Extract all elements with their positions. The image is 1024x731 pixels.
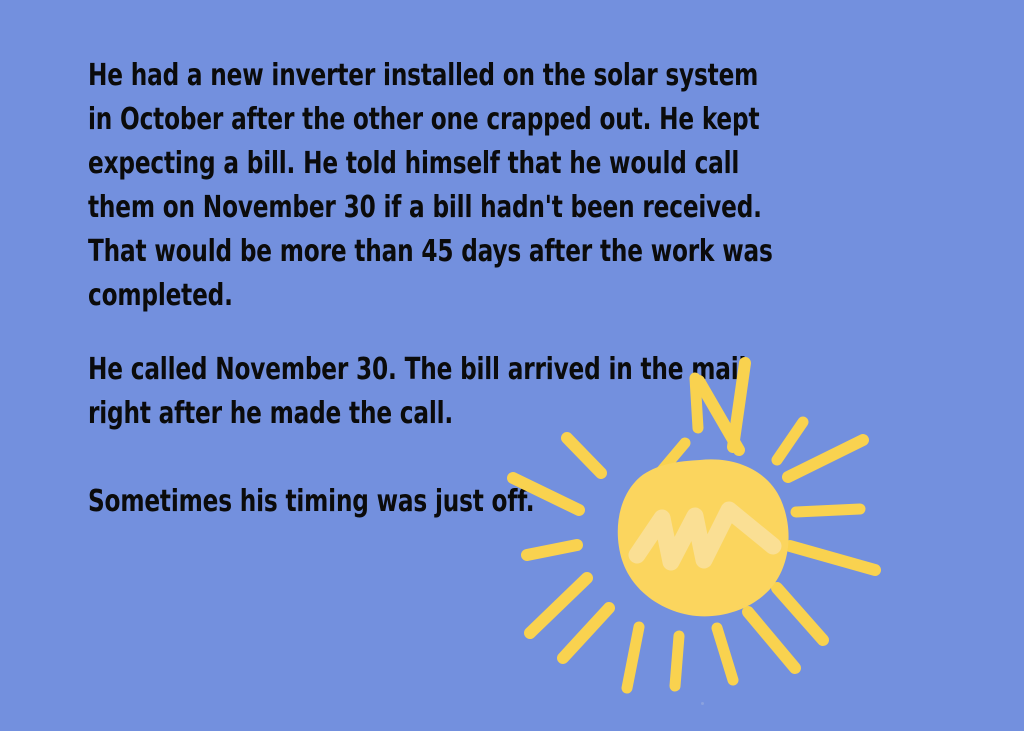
- sun-ray-7: [796, 509, 860, 512]
- sun-ray-10: [748, 612, 795, 668]
- sun-ray-15: [530, 578, 587, 633]
- sun-ray-18: [567, 438, 601, 473]
- sun-ray-14: [563, 608, 609, 658]
- slide-canvas: He had a new inverter installed on the s…: [0, 0, 1024, 731]
- background-speck: [701, 702, 704, 705]
- sun-ray-9: [777, 588, 823, 640]
- sun-illustration: [505, 350, 895, 720]
- sun-ray-16: [527, 545, 577, 555]
- sun-ray-5: [777, 422, 803, 460]
- sun-ray-4: [733, 363, 745, 447]
- sun-ray-12: [675, 636, 679, 686]
- sun-ray-8: [790, 546, 875, 570]
- sun-ray-13: [627, 627, 639, 688]
- sun-ray-3: [695, 378, 698, 428]
- sun-ray-17: [513, 478, 579, 510]
- sun-icon: [505, 350, 895, 720]
- sun-ray-6: [788, 440, 863, 477]
- paragraph-1: He had a new inverter installed on the s…: [88, 54, 776, 318]
- sun-ray-11: [717, 628, 733, 680]
